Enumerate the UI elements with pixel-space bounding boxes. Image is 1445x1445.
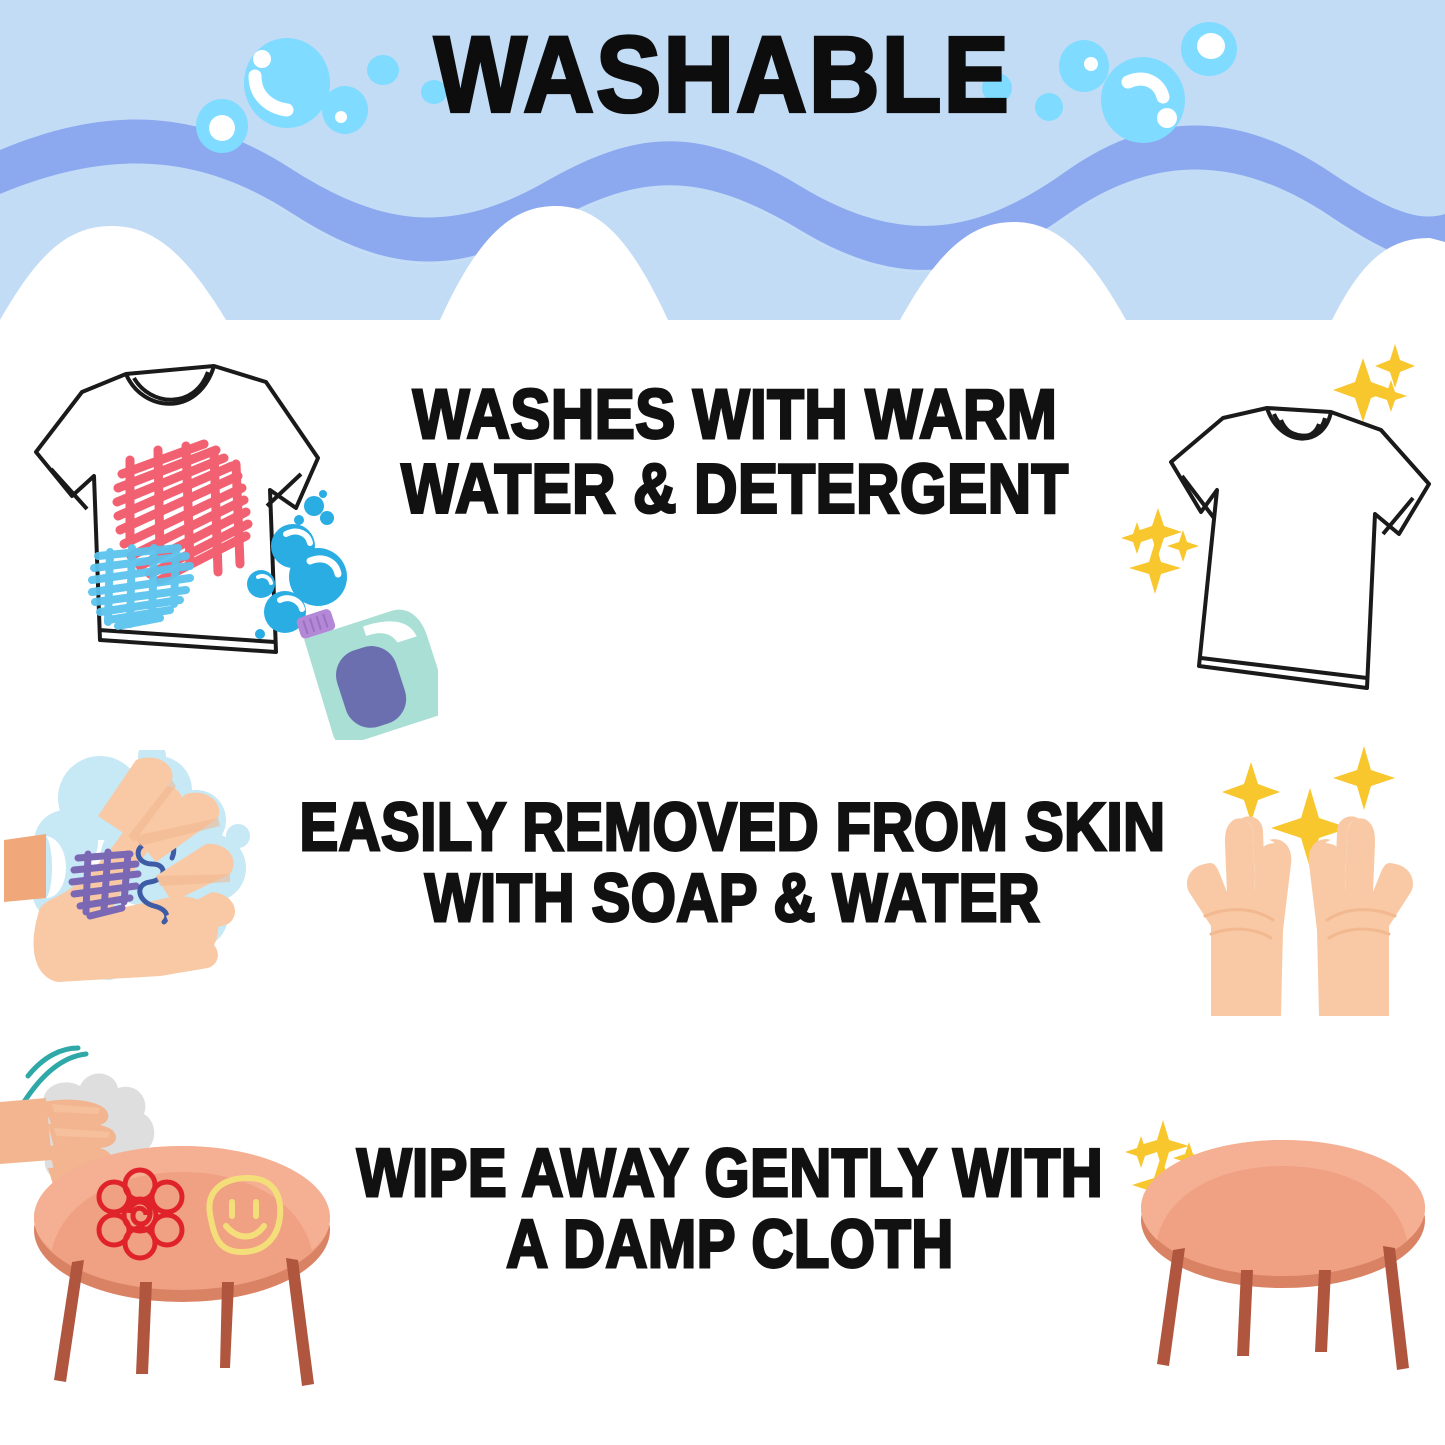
soapy-hands-illustration (0, 750, 300, 1030)
row3-line2: A DAMP CLOTH (330, 1209, 1130, 1280)
feature-row-skin: EASILY REMOVED FROM SKIN WITH SOAP & WAT… (0, 740, 1445, 1050)
row1-line1: WASHES WITH WARM (370, 378, 1100, 452)
clean-tshirt (1171, 408, 1429, 688)
right-hand (1309, 816, 1413, 1016)
row3-line1: WIPE AWAY GENTLY WITH (330, 1138, 1130, 1209)
row3-text-block: WIPE AWAY GENTLY WITH A DAMP CLOTH (330, 1138, 1130, 1281)
clean-tshirt-with-sparkles-illustration (1095, 330, 1440, 730)
left-hand (1187, 816, 1291, 1016)
row1-text-block: WASHES WITH WARM WATER & DETERGENT (370, 378, 1100, 526)
clean-table-with-sparkles-illustration (1105, 1098, 1445, 1398)
row2-line2: WITH SOAP & WATER (275, 863, 1190, 934)
row2-text-block: EASILY REMOVED FROM SKIN WITH SOAP & WAT… (275, 792, 1190, 935)
clean-hands-with-sparkles-illustration (1155, 740, 1445, 1040)
washable-infographic: WASHABLE (0, 0, 1445, 1445)
sparkle-group-left (1121, 508, 1199, 594)
feature-row-washes: WASHES WITH WARM WATER & DETERGENT (0, 320, 1445, 740)
feature-row-wipe: WIPE AWAY GENTLY WITH A DAMP CLOTH (0, 1050, 1445, 1445)
row1-line2: WATER & DETERGENT (370, 452, 1100, 526)
sparkle-group-top (1333, 344, 1415, 422)
table-with-doodles-illustration (0, 1030, 360, 1430)
header-wave-band: WASHABLE (0, 0, 1445, 320)
table (34, 1146, 330, 1386)
page-title: WASHABLE (0, 22, 1445, 130)
row2-line1: EASILY REMOVED FROM SKIN (275, 792, 1190, 863)
